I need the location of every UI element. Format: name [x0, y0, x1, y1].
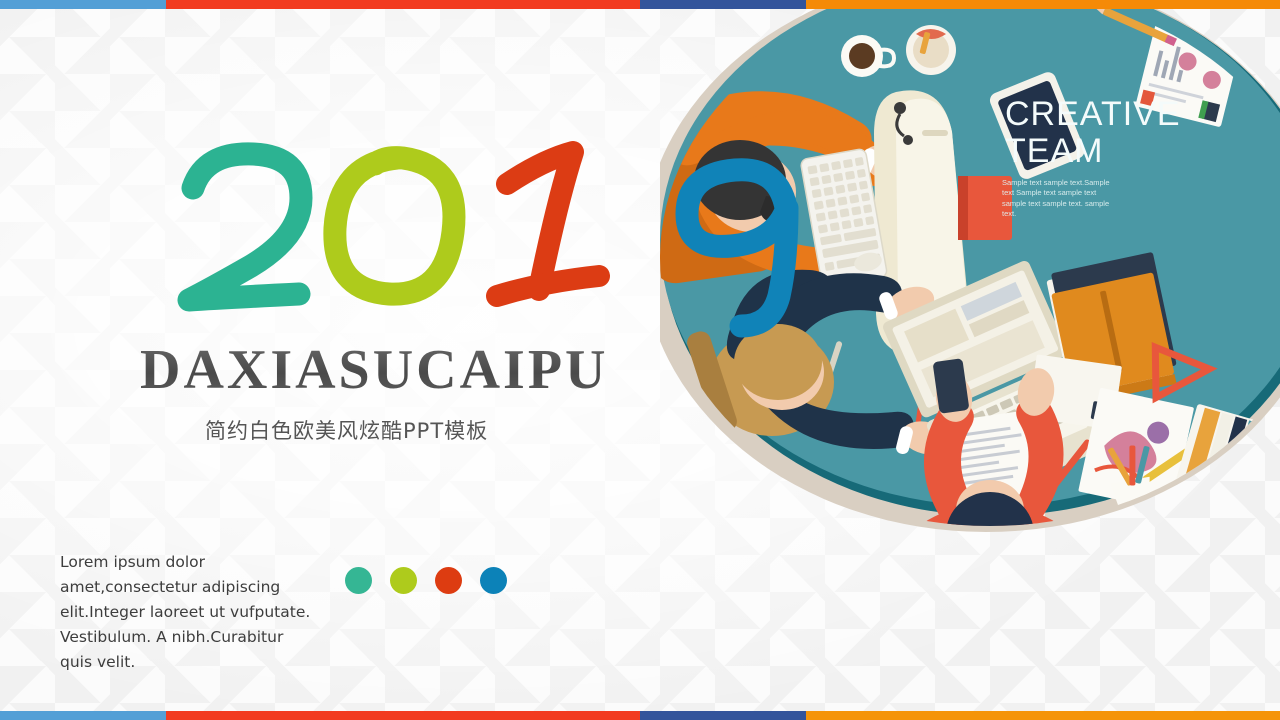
- dot-teal[interactable]: [345, 567, 372, 594]
- illustration-heading-line1: CREATIVE: [1005, 95, 1181, 133]
- color-dot-row: [345, 567, 507, 594]
- bar-segment-light-blue: [0, 711, 166, 720]
- bar-segment-red: [166, 0, 640, 9]
- bottom-accent-bar: [0, 711, 1280, 720]
- pencil-cup: [906, 25, 956, 75]
- bar-segment-dark-blue: [640, 0, 806, 9]
- bar-segment-dark-blue: [640, 711, 806, 720]
- bar-segment-orange: [806, 711, 1280, 720]
- illustration-heading-line2: TEAM: [1005, 132, 1103, 170]
- description-paragraph: Lorem ipsum dolor amet,consectetur adipi…: [60, 550, 315, 676]
- bar-segment-red: [166, 711, 640, 720]
- year-digit-2: [189, 154, 301, 300]
- year-digit-1: [497, 152, 599, 296]
- year-digit-0: [335, 158, 454, 295]
- page-title: DAXIASUCAIPU: [140, 338, 608, 402]
- page-subtitle: 简约白色欧美风炫酷PPT模板: [205, 415, 488, 445]
- dot-lime[interactable]: [390, 567, 417, 594]
- year-digit-9: [687, 170, 787, 326]
- top-accent-bar: [0, 0, 1280, 9]
- presentation-slide: CREATIVE TEAM Sample text sample text.Sa…: [0, 0, 1280, 720]
- dot-red[interactable]: [435, 567, 462, 594]
- bar-segment-orange: [806, 0, 1280, 9]
- illustration-sample-text: Sample text sample text.Sample text Samp…: [1002, 178, 1122, 219]
- year-headline: [175, 140, 875, 340]
- bar-segment-light-blue: [0, 0, 166, 9]
- dot-blue[interactable]: [480, 567, 507, 594]
